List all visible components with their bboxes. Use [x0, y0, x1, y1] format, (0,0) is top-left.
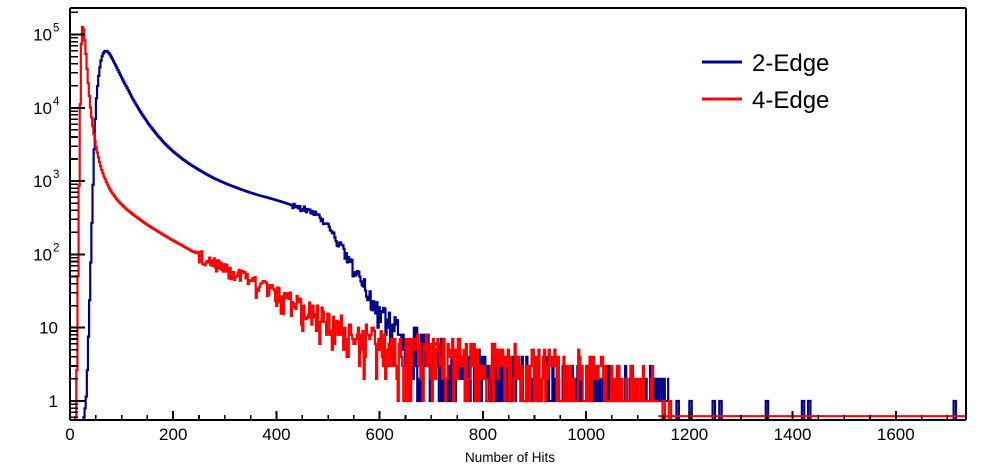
x-tick-label: 1400: [774, 425, 812, 444]
y-tick-label-exponent: 3: [53, 169, 59, 181]
x-tick-label: 600: [365, 425, 393, 444]
legend-label-2-edge: 2-Edge: [752, 50, 829, 77]
y-tick-label-exponent: 5: [53, 23, 59, 35]
y-tick-label: 1: [49, 392, 58, 411]
x-tick-label: 200: [159, 425, 187, 444]
chart-canvas: 0200400600800100012001400160011010210310…: [0, 0, 996, 472]
x-tick-label: 0: [65, 425, 74, 444]
y-tick-label: 10: [33, 99, 52, 118]
x-tick-label: 1000: [567, 425, 605, 444]
x-axis-title: Number of Hits: [465, 450, 555, 465]
y-tick-label-exponent: 4: [53, 96, 60, 108]
y-tick-label: 10: [33, 172, 52, 191]
x-tick-label: 400: [262, 425, 290, 444]
x-tick-label: 1200: [670, 425, 708, 444]
legend-label-4-edge: 4-Edge: [752, 87, 829, 114]
y-tick-label-exponent: 2: [53, 242, 59, 254]
y-tick-label: 10: [33, 26, 52, 45]
x-tick-label: 1600: [877, 425, 915, 444]
x-tick-label: 800: [469, 425, 497, 444]
y-tick-label: 10: [39, 319, 58, 338]
y-tick-label: 10: [33, 245, 52, 264]
histogram-plot: 0200400600800100012001400160011010210310…: [0, 0, 996, 472]
